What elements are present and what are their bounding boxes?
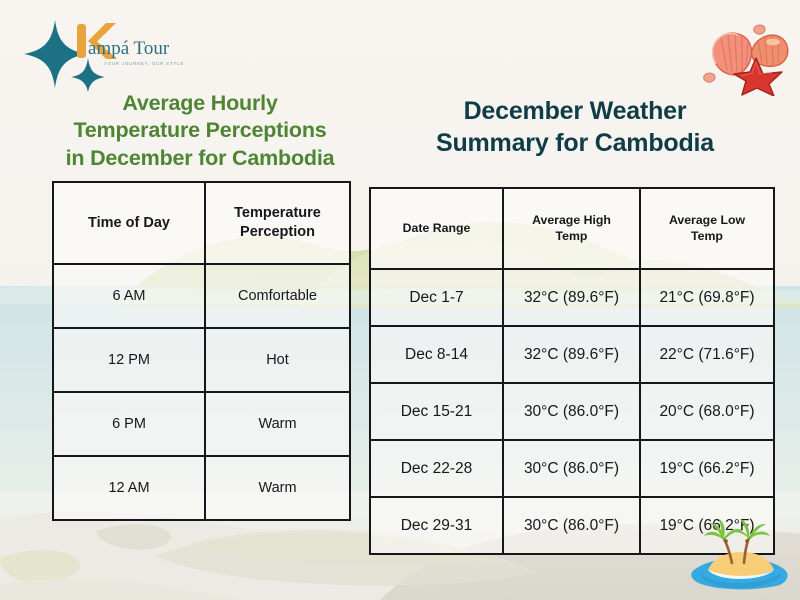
header-text: Time of Day bbox=[88, 215, 170, 231]
table-row: 12 PM Hot bbox=[53, 328, 350, 392]
table-header-row: Date Range Average High Temp Average Low… bbox=[370, 188, 774, 269]
cell-average-high: 32°C (89.6°F) bbox=[503, 269, 640, 326]
cell-perception: Comfortable bbox=[205, 264, 350, 328]
cell-date-range: Dec 29-31 bbox=[370, 497, 503, 554]
four-point-star-small-icon bbox=[71, 58, 105, 92]
left-title-line-3: in December for Cambodia bbox=[20, 145, 380, 172]
cell-average-high: 30°C (86.0°F) bbox=[503, 383, 640, 440]
table-row: Dec 15-21 30°C (86.0°F) 20°C (68.0°F) bbox=[370, 383, 774, 440]
right-title-line-1: December Weather bbox=[380, 96, 770, 128]
header-text-line-1: Temperature bbox=[234, 205, 321, 221]
coconut-icon bbox=[724, 539, 749, 543]
temperature-perception-table: Time of Day Temperature Perception 6 AM … bbox=[52, 181, 351, 521]
logo-tagline: YOUR JOURNEY, OUR STYLE bbox=[104, 61, 184, 66]
cell-date-range: Dec 8-14 bbox=[370, 326, 503, 383]
column-header-average-high-temp: Average High Temp bbox=[503, 188, 640, 269]
poster-canvas: ampá Tour YOUR JOURNEY, OUR STYLE Averag… bbox=[0, 0, 800, 600]
header-text-line-2: Perception bbox=[240, 224, 315, 240]
sand-icon bbox=[708, 552, 774, 579]
small-shell-icon-2 bbox=[704, 73, 715, 82]
column-header-date-range: Date Range bbox=[370, 188, 503, 269]
header-text-line-2: Temp bbox=[556, 229, 588, 243]
column-header-temperature-perception: Temperature Perception bbox=[205, 182, 350, 264]
table-row: 12 AM Warm bbox=[53, 456, 350, 520]
small-shell-icon bbox=[754, 25, 765, 34]
column-header-average-low-temp: Average Low Temp bbox=[640, 188, 774, 269]
cell-average-high: 30°C (86.0°F) bbox=[503, 440, 640, 497]
left-title-line-2: Temperature Perceptions bbox=[20, 117, 380, 144]
left-panel-title: Average Hourly Temperature Perceptions i… bbox=[20, 90, 380, 172]
logo-wordmark: ampá Tour bbox=[88, 38, 170, 59]
cell-perception: Warm bbox=[205, 392, 350, 456]
cell-time-of-day: 6 PM bbox=[53, 392, 205, 456]
cell-perception: Hot bbox=[205, 328, 350, 392]
cell-average-high: 30°C (86.0°F) bbox=[503, 497, 640, 554]
cell-date-range: Dec 22-28 bbox=[370, 440, 503, 497]
right-title-line-2: Summary for Cambodia bbox=[380, 128, 770, 160]
cell-average-low: 19°C (66.2°F) bbox=[640, 440, 774, 497]
cell-time-of-day: 12 AM bbox=[53, 456, 205, 520]
cell-time-of-day: 6 AM bbox=[53, 264, 205, 328]
table-row: Dec 1-7 32°C (89.6°F) 21°C (69.8°F) bbox=[370, 269, 774, 326]
cell-time-of-day: 12 PM bbox=[53, 328, 205, 392]
header-text-line-1: Average Low bbox=[669, 213, 745, 227]
cell-average-low: 20°C (68.0°F) bbox=[640, 383, 774, 440]
cell-date-range: Dec 15-21 bbox=[370, 383, 503, 440]
column-header-time-of-day: Time of Day bbox=[53, 182, 205, 264]
cell-average-high: 32°C (89.6°F) bbox=[503, 326, 640, 383]
cell-average-low: 21°C (69.8°F) bbox=[640, 269, 774, 326]
header-text-line-2: Temp bbox=[691, 229, 723, 243]
table-row: Dec 22-28 30°C (86.0°F) 19°C (66.2°F) bbox=[370, 440, 774, 497]
right-panel-title: December Weather Summary for Cambodia bbox=[380, 96, 770, 160]
header-text: Date Range bbox=[403, 221, 471, 235]
cell-average-low: 22°C (71.6°F) bbox=[640, 326, 774, 383]
table-row: 6 AM Comfortable bbox=[53, 264, 350, 328]
brand-logo[interactable]: ampá Tour YOUR JOURNEY, OUR STYLE bbox=[22, 14, 192, 92]
table-row: Dec 8-14 32°C (89.6°F) 22°C (71.6°F) bbox=[370, 326, 774, 383]
cell-perception: Warm bbox=[205, 456, 350, 520]
palm-island-illustration bbox=[688, 518, 792, 594]
table-header-row: Time of Day Temperature Perception bbox=[53, 182, 350, 264]
header-text-line-1: Average High bbox=[532, 213, 611, 227]
cell-date-range: Dec 1-7 bbox=[370, 269, 503, 326]
palm-fronds-icon bbox=[704, 519, 770, 540]
december-weather-summary-table: Date Range Average High Temp Average Low… bbox=[369, 187, 775, 555]
seashells-starfish-illustration bbox=[694, 16, 794, 96]
table-row: 6 PM Warm bbox=[53, 392, 350, 456]
scallop-shell-icon bbox=[713, 33, 752, 75]
left-title-line-1: Average Hourly bbox=[20, 90, 380, 117]
